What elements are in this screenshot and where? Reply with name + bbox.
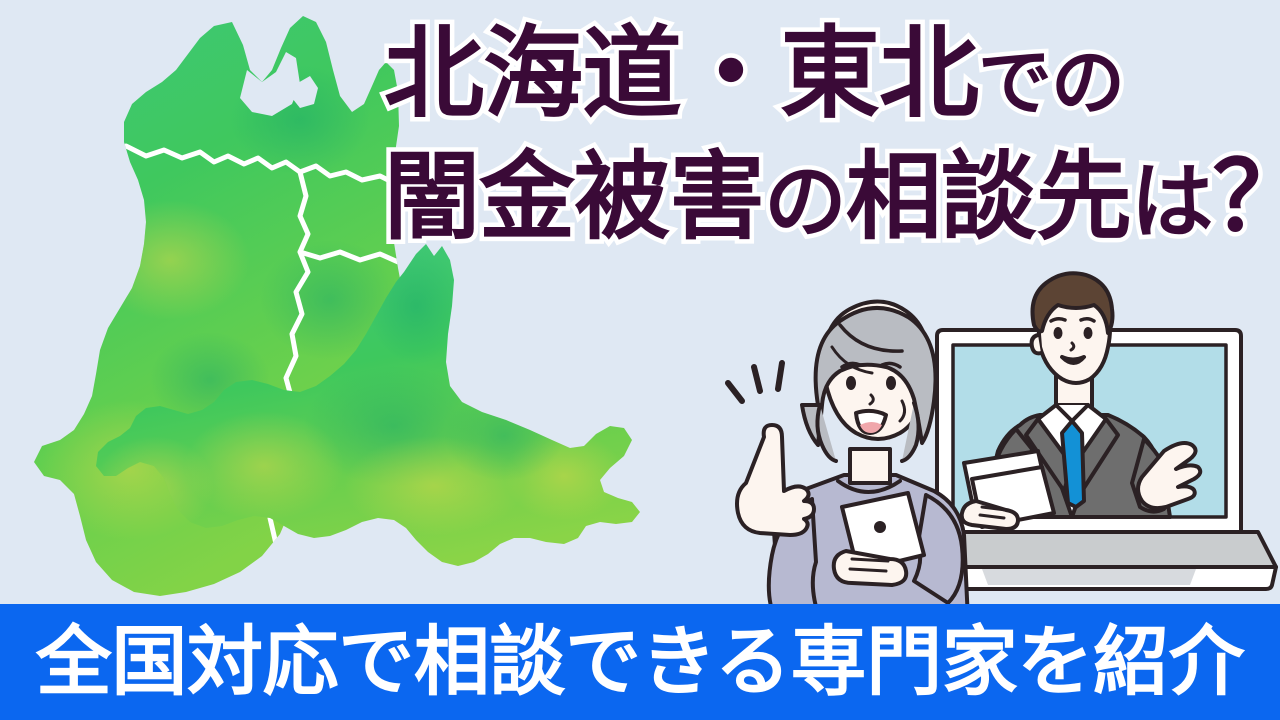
title-question-mark: ？ (1212, 141, 1280, 253)
thumbnail-canvas: 北海道・東北での 闇金被害の相談先は？ (0, 0, 1280, 720)
japan-north-map (0, 0, 720, 620)
title-line2-main2: 相談先 (846, 141, 1131, 253)
title-line2-mid: の (764, 154, 846, 250)
title-line1-suffix: での (978, 40, 1124, 126)
banner-text: 全国対応で相談できる専門家を紹介 (36, 620, 1244, 704)
illustration-group (720, 255, 1280, 620)
bottom-banner: 全国対応で相談できる専門家を紹介 (0, 604, 1280, 720)
title-line2-tail: は (1131, 154, 1213, 250)
sparkle-lines (728, 363, 782, 401)
pointing-woman (728, 301, 968, 620)
